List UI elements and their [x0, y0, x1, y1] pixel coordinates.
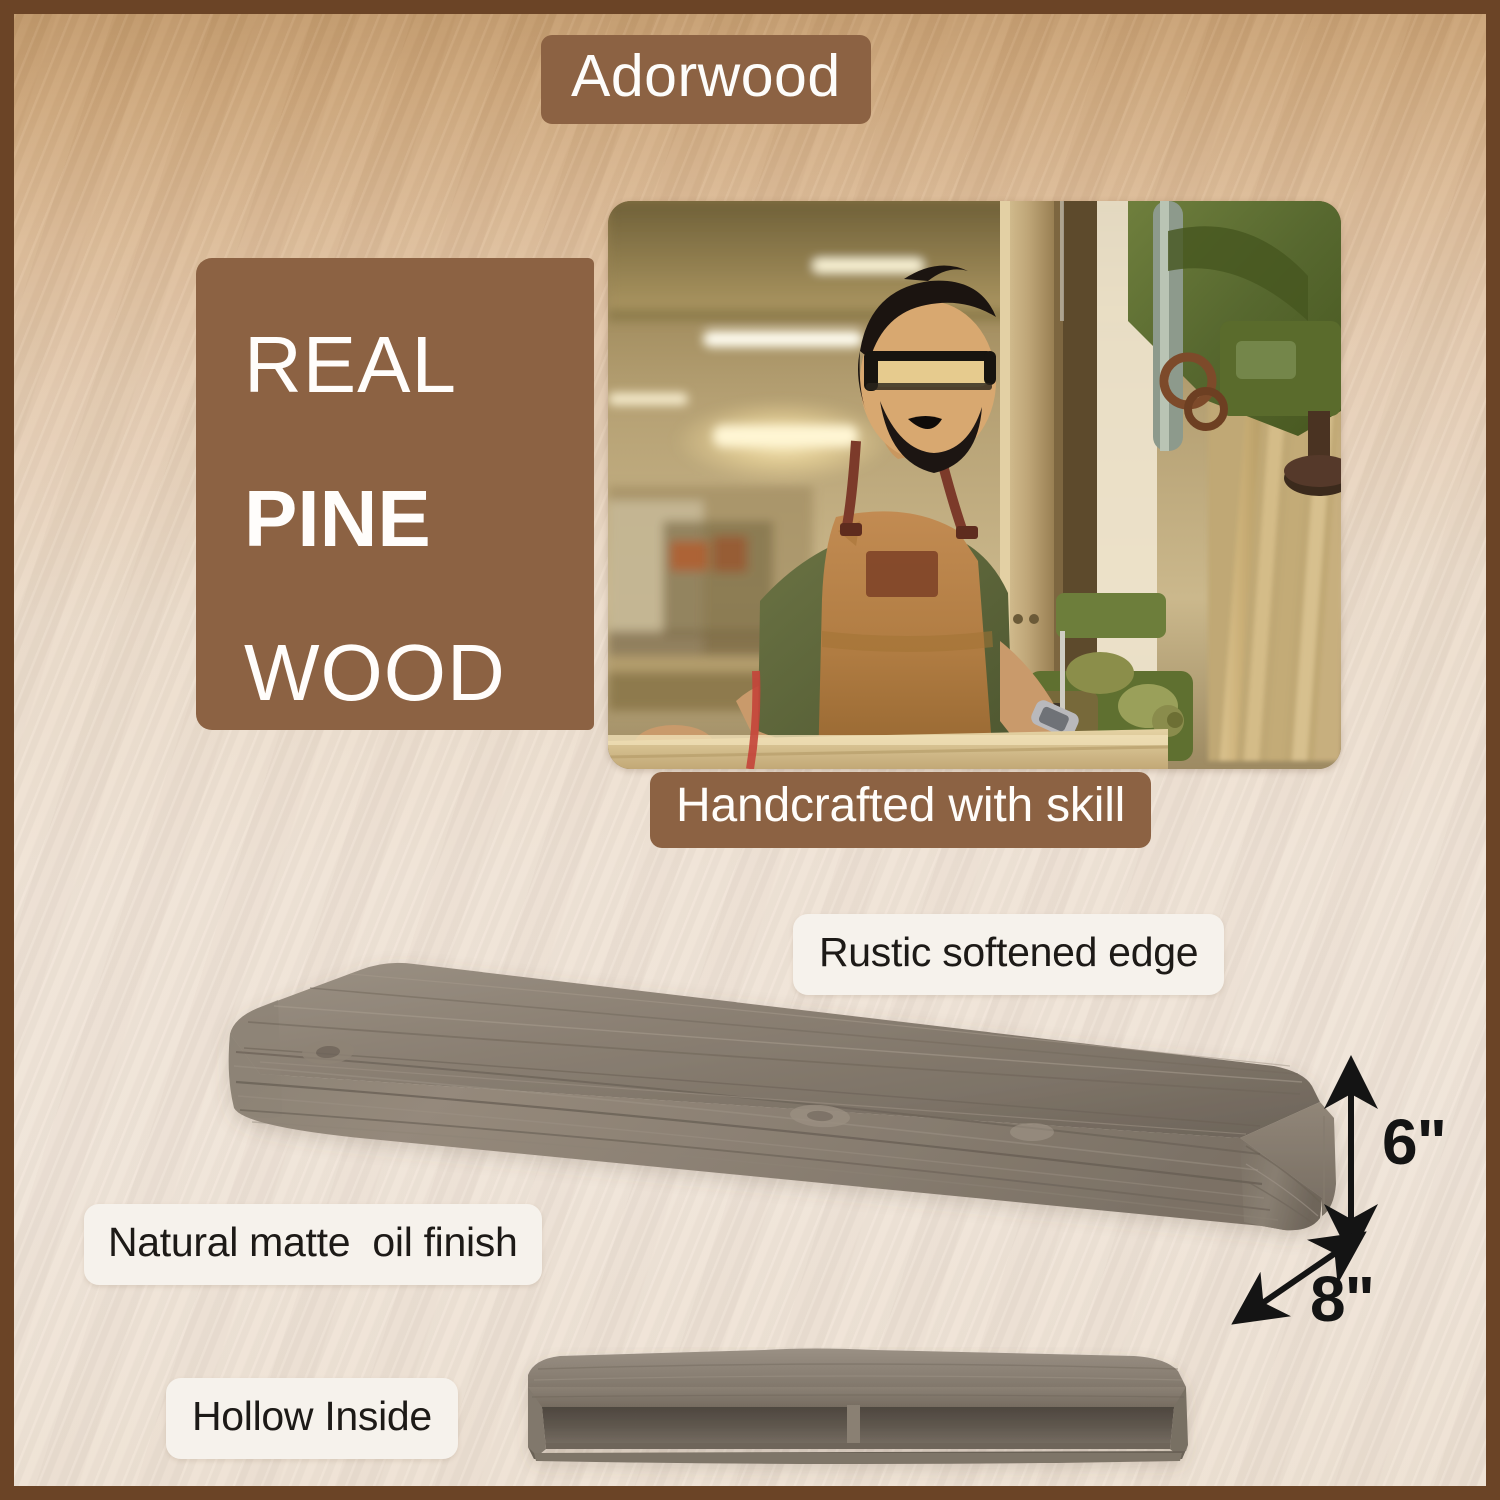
craftsman-bandsaw-photo: [608, 201, 1341, 769]
brand-name: Adorwood: [571, 43, 841, 109]
headline-panel: REAL PINE WOOD: [196, 258, 594, 730]
headline-line-wood: WOOD: [244, 596, 594, 750]
dimension-depth-label: 8": [1310, 1267, 1374, 1331]
hollow-beam-cross-section: [514, 1347, 1204, 1486]
label-hollow-inside: Hollow Inside: [166, 1378, 458, 1459]
label-natural-matte-oil-finish: Natural matte oil finish: [84, 1204, 542, 1285]
headline-line-real: REAL: [244, 288, 594, 442]
photo-caption: Handcrafted with skill: [650, 772, 1151, 848]
image-frame: Adorwood REAL PINE WOOD: [0, 0, 1500, 1500]
poster-background: Adorwood REAL PINE WOOD: [14, 14, 1486, 1486]
dimension-height-label: 6": [1382, 1110, 1446, 1174]
label-rustic-softened-edge: Rustic softened edge: [793, 914, 1224, 995]
brand-banner: Adorwood: [541, 35, 871, 124]
photo-caption-text: Handcrafted with skill: [676, 779, 1125, 832]
headline-line-pine: PINE: [244, 442, 594, 596]
